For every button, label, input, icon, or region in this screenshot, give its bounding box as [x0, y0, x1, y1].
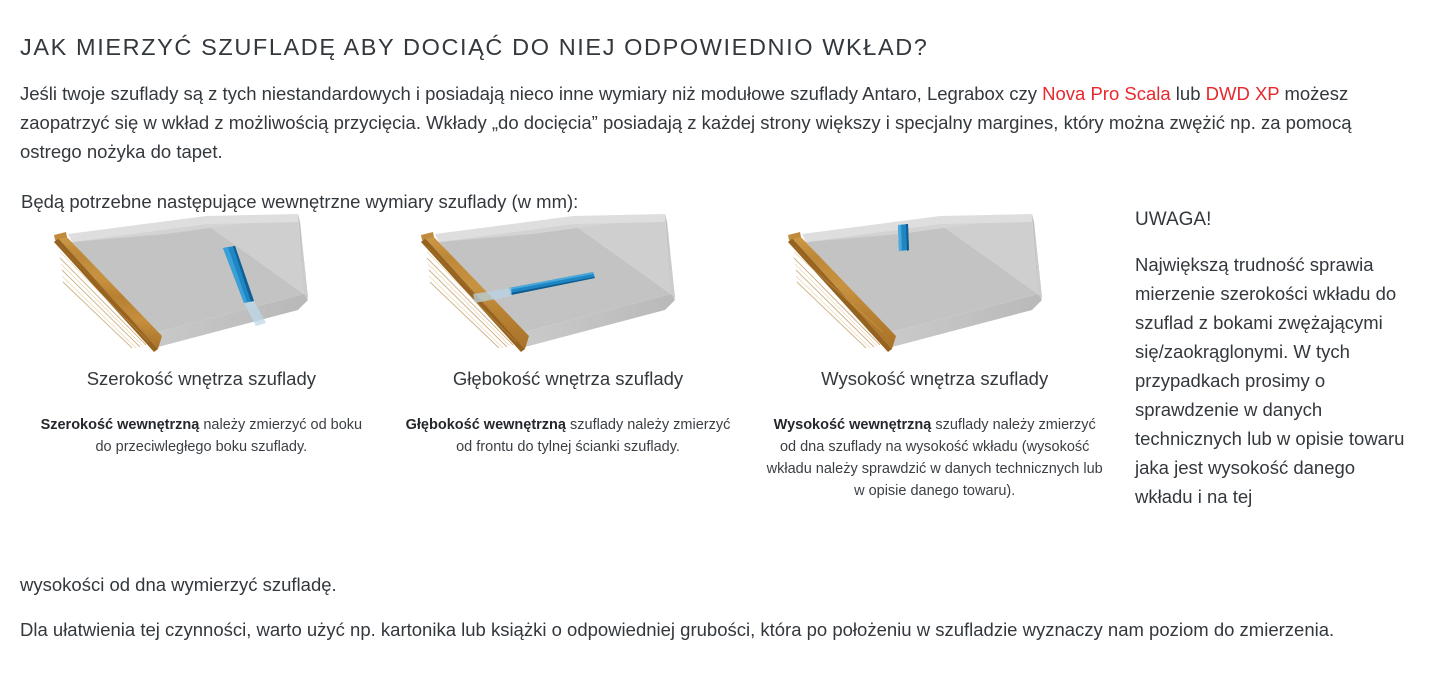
column-width-desc-bold: Szerokość wewnętrzną [41, 417, 200, 433]
column-depth-caption: Głębokość wnętrza szuflady [385, 366, 752, 392]
drawer-width-illustration [18, 206, 385, 356]
drawer-depth-illustration [385, 206, 752, 356]
column-width-description: Szerokość wewnętrzną należy zmierzyć od … [18, 414, 385, 458]
drawer-height-illustration [751, 206, 1118, 356]
dimension-columns: Szerokość wnętrza szuflady Szerokość wew… [18, 206, 1118, 502]
intro-text-2: lub [1171, 83, 1206, 104]
column-width: Szerokość wnętrza szuflady Szerokość wew… [18, 206, 385, 502]
tail-paragraph-1: wysokości od dna wymierzyć szufladę. [20, 570, 1120, 599]
warning-note-body: Największą trudność sprawia mierzenie sz… [1135, 250, 1415, 511]
warning-note: UWAGA! Największą trudność sprawia mierz… [1135, 206, 1415, 511]
tail-paragraph-2: Dla ułatwienia tej czynności, warto użyć… [20, 615, 1420, 644]
column-depth-description: Głębokość wewnętrzną szuflady należy zmi… [385, 414, 752, 458]
intro-text-1: Jeśli twoje szuflady są z tych niestanda… [20, 83, 1042, 104]
warning-note-title: UWAGA! [1135, 206, 1415, 234]
link-dwd-xp[interactable]: DWD XP [1206, 83, 1280, 104]
intro-paragraph: Jeśli twoje szuflady są z tych niestanda… [20, 79, 1368, 166]
drawer-height-diagram-icon [770, 206, 1100, 356]
column-height-description: Wysokość wewnętrzną szuflady należy zmie… [751, 414, 1118, 502]
column-depth-desc-bold: Głębokość wewnętrzną [406, 417, 566, 433]
drawer-width-diagram-icon [36, 206, 366, 356]
column-height-desc-bold: Wysokość wewnętrzną [774, 417, 932, 433]
link-nova-pro-scala[interactable]: Nova Pro Scala [1042, 83, 1171, 104]
drawer-depth-diagram-icon [403, 206, 733, 356]
column-depth: Głębokość wnętrza szuflady Głębokość wew… [385, 206, 752, 502]
column-width-caption: Szerokość wnętrza szuflady [18, 366, 385, 392]
page-title: JAK MIERZYĆ SZUFLADĘ ABY DOCIĄĆ DO NIEJ … [20, 34, 1410, 61]
column-height: Wysokość wnętrza szuflady Wysokość wewnę… [751, 206, 1118, 502]
article-page: JAK MIERZYĆ SZUFLADĘ ABY DOCIĄĆ DO NIEJ … [0, 0, 1433, 674]
column-height-caption: Wysokość wnętrza szuflady [751, 366, 1118, 392]
